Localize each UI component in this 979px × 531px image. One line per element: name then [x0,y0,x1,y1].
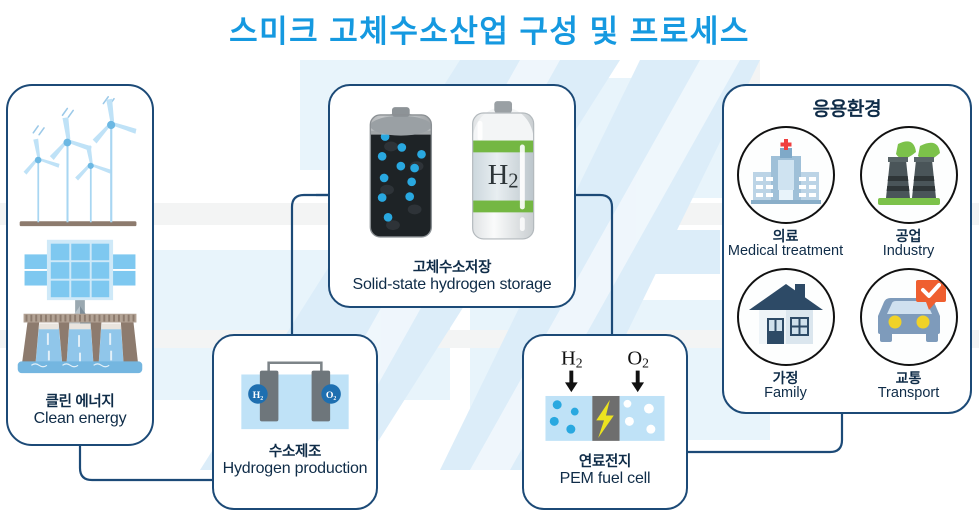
house-icon-wrap [737,268,835,366]
house-icon [745,276,827,358]
panel-applications[interactable]: 응용환경 [722,84,972,414]
industry-label-ko: 공업 [883,229,935,244]
hospital-icon [745,134,827,216]
storage-art: H2 [330,94,574,252]
application-label-family: 가정 Family [764,371,807,402]
panel-hydrogen-production[interactable]: H₂ O₂ 수소제조 Hydrogen production [212,334,378,510]
industry-label-en: Industry [883,244,935,260]
applications-header: 응용환경 [724,94,970,121]
panel-pem-fuel-cell[interactable]: H2 O2 연료전지 PE [522,334,688,510]
hydrogen-cylinder-icon: H2 [473,101,534,239]
storage-label-ko: 고체수소저장 [330,260,574,276]
medical-label-en: Medical treatment [728,244,843,260]
family-label-en: Family [764,386,807,402]
production-label-en: Hydrogen production [214,460,376,478]
infographic-root: 스미크 고체수소산업 구성 및 프로세스 [0,0,979,531]
production-caption: 수소제조 Hydrogen production [214,444,376,478]
application-label-medical: 의료 Medical treatment [728,229,843,260]
hospital-icon-wrap [737,126,835,224]
electrode-h2-label: H₂ [253,390,264,401]
fuelcell-label-ko: 연료전지 [524,454,686,470]
factory-icon [868,134,950,216]
fuelcell-label-en: PEM fuel cell [524,470,686,488]
clean-energy-caption: 클린 에너지 Clean energy [8,394,152,428]
electrolysis-cell-icon: H₂ O₂ [214,352,376,436]
electrode-o2-label: O₂ [326,390,337,401]
fuelcell-o2-label: O2 [627,348,649,371]
car-icon-wrap [860,268,958,366]
application-label-transport: 교통 Transport [878,371,940,402]
storage-caption: 고체수소저장 Solid-state hydrogen storage [330,260,574,294]
panel-clean-energy[interactable]: 클린 에너지 Clean energy [6,84,154,446]
application-label-industry: 공업 Industry [883,229,935,260]
transport-label-en: Transport [878,386,940,402]
factory-icon-wrap [860,126,958,224]
page-title: 스미크 고체수소산업 구성 및 프로세스 [0,6,979,51]
panel-solid-state-storage[interactable]: H2 고체수소저장 Solid-state hydrogen storage [328,84,576,308]
application-item-transport[interactable]: 교통 Transport [847,268,970,410]
fuelcell-h2-label: H2 [561,348,583,371]
medical-label-ko: 의료 [728,229,843,244]
storage-label-en: Solid-state hydrogen storage [330,276,574,294]
fuelcell-caption: 연료전지 PEM fuel cell [524,454,686,488]
car-icon [868,276,950,358]
metal-hydride-tank-icon [367,107,434,239]
applications-grid: 의료 Medical treatment [724,126,970,410]
application-item-family[interactable]: 가정 Family [724,268,847,410]
link-production-to-storage [292,195,328,334]
clean-energy-art [8,90,152,375]
clean-energy-label-ko: 클린 에너지 [8,394,152,410]
link-storage-to-fuelcell [576,195,612,334]
pem-fuel-cell-icon: H2 O2 [524,342,686,448]
application-item-medical[interactable]: 의료 Medical treatment [724,126,847,268]
application-item-industry[interactable]: 공업 Industry [847,126,970,268]
clean-energy-label-en: Clean energy [8,410,152,428]
link-fuelcell-to-apps [688,414,842,452]
transport-label-ko: 교통 [878,371,940,386]
wind-turbine-icon [20,97,137,226]
down-arrow-icon [565,371,644,392]
production-label-ko: 수소제조 [214,444,376,460]
family-label-ko: 가정 [764,371,807,386]
